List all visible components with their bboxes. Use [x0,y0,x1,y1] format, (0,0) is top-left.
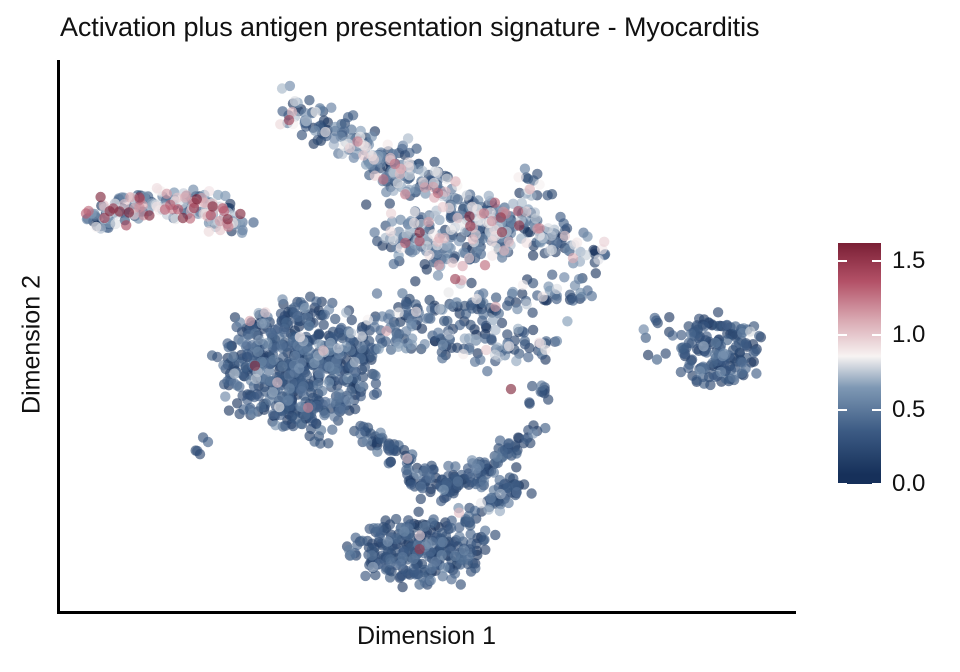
colorbar-tick-1-5-right [872,260,881,262]
colorbar-tick-1-0-right [872,334,881,336]
colorbar-label-1-0: 1.0 [892,323,925,347]
colorbar-label-0-0: 0.0 [892,472,925,496]
colorbar-tick-0-0-left [838,483,847,485]
colorbar-gradient [838,243,881,484]
chart-canvas: Activation plus antigen presentation sig… [0,0,960,672]
colorbar-label-0-5: 0.5 [892,398,925,422]
colorbar-tick-1-5-left [838,260,847,262]
colorbar-tick-0-5-right [872,409,881,411]
colorbar-label-1-5: 1.5 [892,249,925,273]
colorbar-tick-0-0-right [872,483,881,485]
y-axis-label: Dimension 2 [18,65,47,625]
colorbar-tick-0-5-left [838,409,847,411]
page-title: Activation plus antigen presentation sig… [60,8,960,46]
colorbar-tick-1-0-left [838,334,847,336]
scatter-plot-area [60,60,796,611]
colorbar: 1.5 1.0 0.5 0.0 [838,243,958,485]
x-axis-line [57,611,796,614]
scatter-points-layer [60,60,796,611]
x-axis-label: Dimension 1 [57,622,796,651]
